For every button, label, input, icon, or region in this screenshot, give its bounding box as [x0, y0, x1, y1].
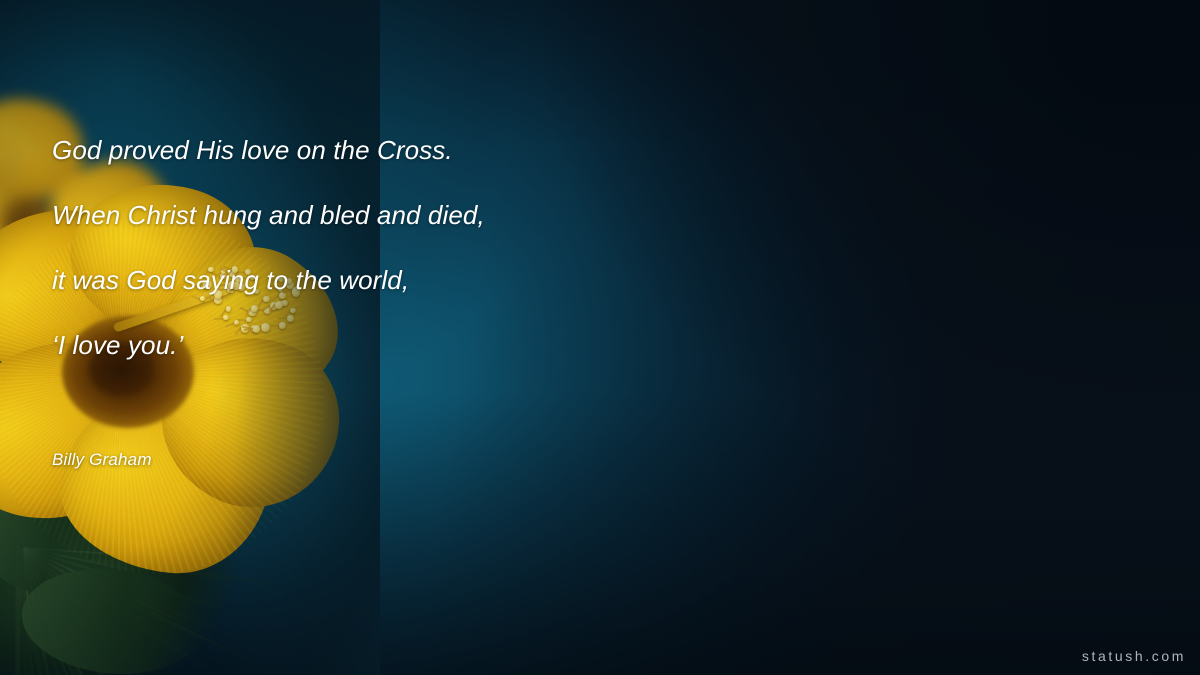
quote-author: Billy Graham — [52, 450, 152, 470]
quote-text: God proved His love on the Cross. When C… — [52, 118, 772, 378]
quote-line-3: it was God saying to the world, — [52, 248, 772, 313]
quote-line-4: ‘I love you.’ — [52, 313, 772, 378]
site-watermark: statush.com — [1082, 648, 1186, 664]
quote-line-1: God proved His love on the Cross. — [52, 118, 772, 183]
quote-line-2: When Christ hung and bled and died, — [52, 183, 772, 248]
quote-card: God proved His love on the Cross. When C… — [0, 0, 1200, 675]
